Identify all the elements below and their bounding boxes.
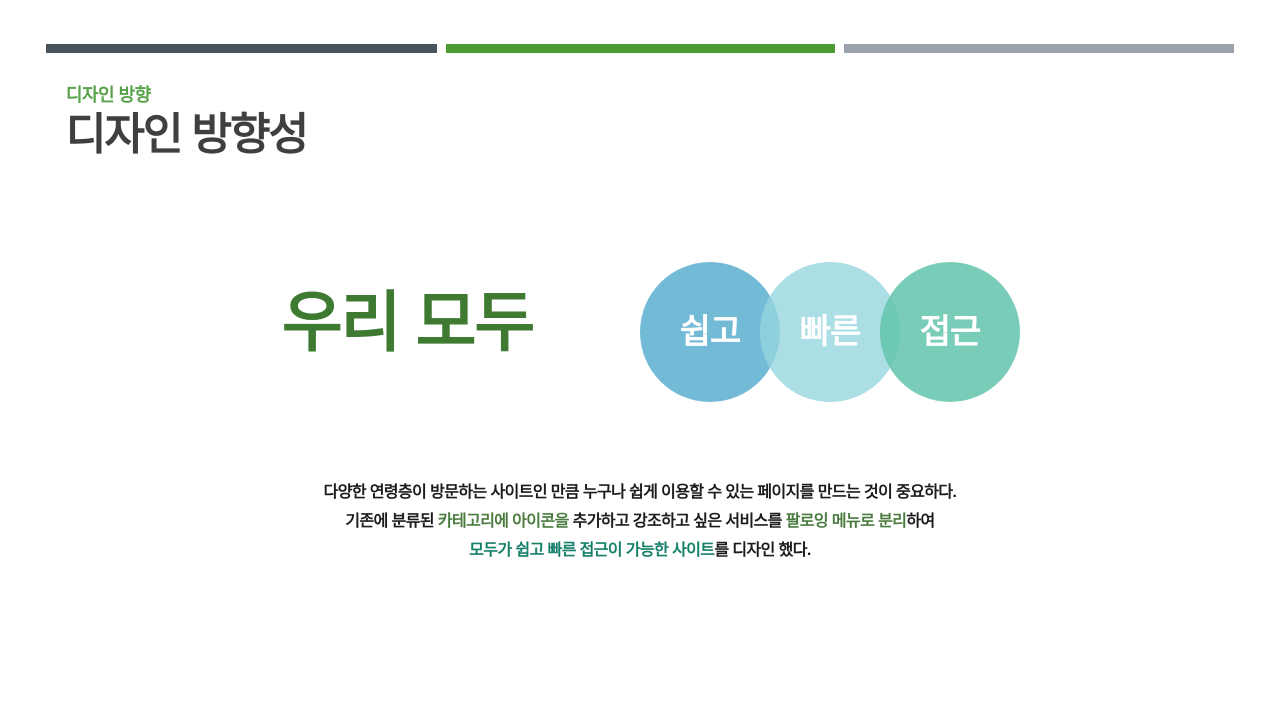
eyebrow-label: 디자인 방향 — [66, 86, 307, 106]
body-line-2-highlight-category: 카테고리에 아이콘을 — [438, 513, 569, 530]
page-title: 디자인 방향성 — [66, 110, 307, 161]
hero-phrase: 우리 모두 — [282, 286, 612, 359]
top-rule-segment-dark — [46, 44, 437, 53]
body-line-1-text: 다양한 연령층이 방문하는 사이트인 만큼 누구나 쉽게 이용할 수 있는 페이… — [324, 484, 957, 501]
top-rule-gap-1 — [437, 44, 446, 53]
venn-circle-fast-label: 빠른 — [800, 315, 861, 349]
body-line-3-part-b: 를 디자인 했다. — [714, 542, 810, 559]
body-line-2-highlight-following: 팔로잉 메뉴로 분리 — [786, 513, 907, 530]
body-line-2-part-a: 기존에 분류된 — [345, 513, 437, 530]
hero-section: 우리 모두 쉽고 빠른 접근 — [0, 258, 1280, 406]
top-rule-segment-grey — [844, 44, 1234, 53]
top-rule — [46, 44, 1234, 53]
venn-circle-fast: 빠른 — [760, 262, 900, 402]
body-line-3: 모두가 쉽고 빠른 접근이 가능한 사이트를 디자인 했다. — [0, 536, 1280, 565]
body-copy: 다양한 연령층이 방문하는 사이트인 만큼 누구나 쉽게 이용할 수 있는 페이… — [0, 478, 1280, 565]
top-rule-segment-green — [446, 44, 835, 53]
slide-root: { "theme": { "background": "#ffffff", "r… — [0, 0, 1280, 720]
slide-header: 디자인 방향 디자인 방향성 — [66, 86, 307, 160]
body-line-2-part-e: 하여 — [906, 513, 934, 530]
body-line-3-highlight-site: 모두가 쉽고 빠른 접근이 가능한 사이트 — [469, 542, 714, 559]
venn-circle-easy: 쉽고 — [640, 262, 780, 402]
venn-circle-access-label: 접근 — [920, 315, 981, 349]
venn-diagram: 쉽고 빠른 접근 — [640, 258, 1020, 406]
body-line-2: 기존에 분류된 카테고리에 아이콘을 추가하고 강조하고 싶은 서비스를 팔로잉… — [0, 507, 1280, 536]
top-rule-gap-2 — [835, 44, 844, 53]
venn-circle-access: 접근 — [880, 262, 1020, 402]
body-line-2-part-c: 추가하고 강조하고 싶은 서비스를 — [569, 513, 786, 530]
body-line-1: 다양한 연령층이 방문하는 사이트인 만큼 누구나 쉽게 이용할 수 있는 페이… — [0, 478, 1280, 507]
venn-circle-easy-label: 쉽고 — [680, 315, 741, 349]
